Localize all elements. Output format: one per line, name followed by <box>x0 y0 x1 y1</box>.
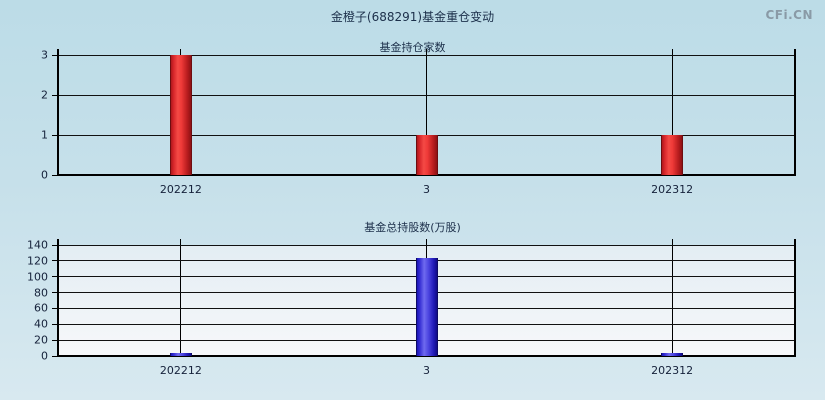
gridline <box>58 55 795 56</box>
chart-page: 金橙子(688291)基金重仓变动 CFi.CN 基金持仓家数 基金总持股数(万… <box>0 0 825 400</box>
watermark-label: CFi.CN <box>765 8 813 22</box>
right-spine <box>794 239 796 357</box>
bar-3 <box>416 258 438 356</box>
page-title: 金橙子(688291)基金重仓变动 <box>0 8 825 25</box>
gridline <box>58 95 795 96</box>
y-axis-tick-label: 60 <box>0 302 48 315</box>
gridline <box>58 245 795 246</box>
y-axis-tick-label: 140 <box>0 239 48 252</box>
bar-202312 <box>661 135 683 175</box>
x-axis-tick-label: 202212 <box>160 364 202 377</box>
x-axis-tick-label: 202312 <box>651 183 693 196</box>
chart-1-title: 基金持仓家数 <box>0 39 825 55</box>
y-axis-line <box>57 239 59 357</box>
chart-2-panel: 0204060801001201402022123202312 <box>0 245 825 363</box>
y-axis-tick-label: 80 <box>0 286 48 299</box>
y-axis-tick-label: 3 <box>0 49 48 62</box>
chart-2-plot-area <box>58 245 795 356</box>
y-axis-tick-label: 0 <box>0 169 48 182</box>
x-axis-tick-label: 202212 <box>160 183 202 196</box>
y-axis-line <box>57 49 59 176</box>
x-axis-tick-label: 3 <box>423 364 430 377</box>
x-axis-tick-label: 202312 <box>651 364 693 377</box>
y-axis-tick-label: 120 <box>0 254 48 267</box>
chart-1-panel: 01232022123202312 <box>0 55 825 185</box>
chart-1-plot-area <box>58 55 795 175</box>
y-axis-tick-label: 2 <box>0 89 48 102</box>
bar-3 <box>416 135 438 175</box>
y-axis-tick-label: 40 <box>0 318 48 331</box>
right-spine <box>794 49 796 176</box>
y-axis-tick-label: 100 <box>0 270 48 283</box>
y-axis-tick-label: 0 <box>0 350 48 363</box>
y-axis-tick-label: 1 <box>0 129 48 142</box>
bar-202312 <box>661 353 683 356</box>
bar-202212 <box>170 353 192 356</box>
y-axis-tick-label: 20 <box>0 334 48 347</box>
chart-2-title: 基金总持股数(万股) <box>0 219 825 235</box>
x-axis-tick-label: 3 <box>423 183 430 196</box>
bar-202212 <box>170 55 192 175</box>
